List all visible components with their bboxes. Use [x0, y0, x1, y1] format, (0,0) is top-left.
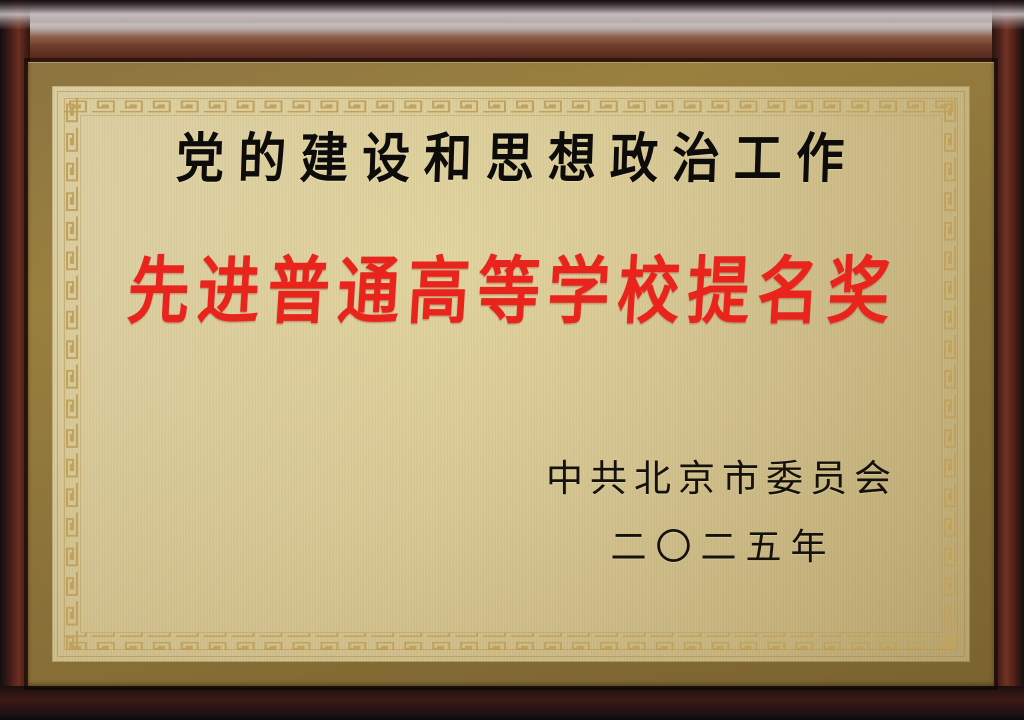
plaque-award-title: 先进普通高等学校提名奖 [117, 253, 900, 330]
issuing-organization: 中共北京市委员会 [539, 448, 898, 502]
frame-edge-top-highlight [0, 0, 1024, 30]
gold-plate: 党的建设和思想政治工作 先进普通高等学校提名奖 中共北京市委员会 二〇二五年 [52, 86, 970, 662]
plaque-signature-block: 中共北京市委员会 二〇二五年 [539, 448, 898, 570]
issue-year: 二〇二五年 [539, 518, 898, 570]
award-plaque: 党的建设和思想政治工作 先进普通高等学校提名奖 中共北京市委员会 二〇二五年 [0, 0, 1024, 720]
frame-edge-bottom [0, 686, 1024, 720]
frame-edge-right [992, 0, 1024, 720]
plaque-heading-line: 党的建设和思想政治工作 [161, 130, 859, 189]
plaque-content: 党的建设和思想政治工作 先进普通高等学校提名奖 [52, 86, 970, 662]
